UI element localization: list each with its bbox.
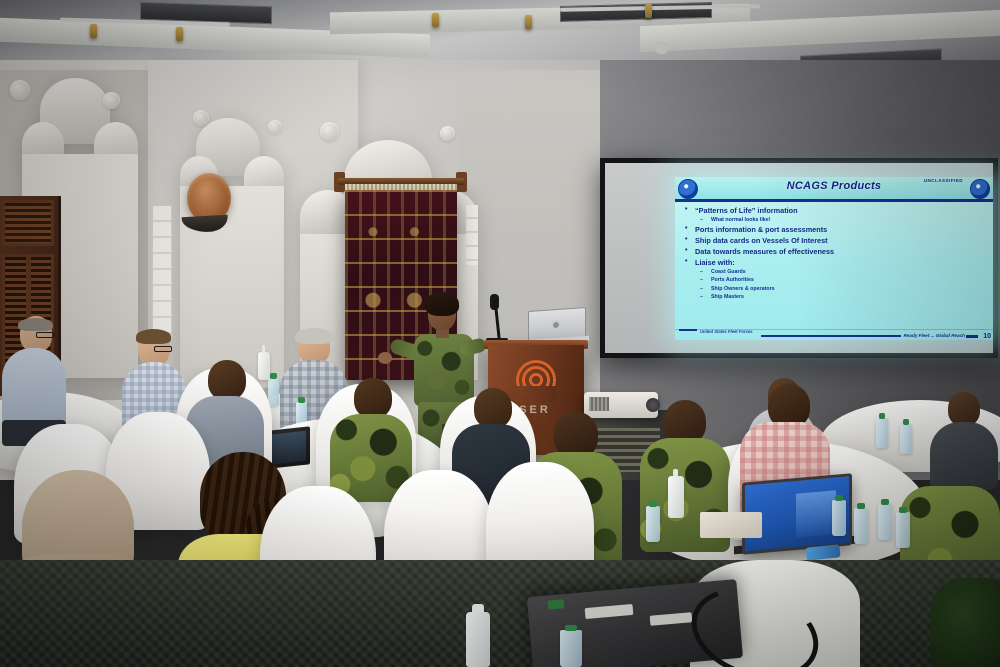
water-bottle bbox=[900, 424, 912, 454]
water-bottle bbox=[876, 418, 888, 448]
wall-medallion bbox=[10, 80, 30, 100]
track-light-icon bbox=[645, 4, 652, 18]
slide-bullet: Liaise with: bbox=[683, 259, 989, 267]
water-bottle bbox=[832, 500, 846, 536]
footer-text-right: Ready Fleet ... Global Reach bbox=[903, 333, 965, 338]
projection-screen: NCAGS Products UNCLASSIFIED “Patterns of… bbox=[600, 158, 998, 358]
footer-bar-right bbox=[966, 335, 978, 338]
slide-bullet: Ship data cards on Vessels Of Interest bbox=[683, 237, 989, 245]
slide-bullet: Ports information & port assessments bbox=[683, 226, 989, 234]
wall-medallion bbox=[320, 122, 339, 141]
classification-marking: UNCLASSIFIED bbox=[924, 178, 963, 183]
lattice-panel bbox=[152, 205, 172, 337]
slide-sub-bullet: What normal looks like! bbox=[683, 218, 989, 224]
slide-footer: United States Fleet Forces Ready Fleet .… bbox=[675, 324, 993, 340]
footer-rule-navy bbox=[761, 335, 901, 338]
attendee-dark-shirt-back-right bbox=[930, 392, 1000, 488]
projector-vent bbox=[589, 397, 609, 411]
wall-medallion bbox=[103, 92, 120, 109]
slide-sub-bullet: Coast Guards bbox=[683, 270, 989, 276]
slide-bullet: “Patterns of Life” information bbox=[683, 207, 989, 215]
track-light-icon bbox=[176, 27, 183, 41]
wall-medallion bbox=[193, 110, 209, 126]
water-bottle bbox=[878, 504, 892, 540]
presenter-hand bbox=[378, 352, 392, 364]
slide-sub-bullet: Ship Owners & operators bbox=[683, 287, 989, 293]
attendee-military-camouflage-left bbox=[330, 378, 414, 500]
wall-medallion bbox=[268, 120, 282, 134]
water-bottle bbox=[896, 512, 910, 548]
water-bottle bbox=[854, 508, 868, 544]
wall-medallion bbox=[440, 126, 455, 141]
track-light-icon bbox=[525, 15, 532, 29]
ceiling-speaker bbox=[655, 42, 669, 54]
footer-bar-left bbox=[679, 329, 697, 332]
water-bottle bbox=[646, 506, 660, 542]
fleet-forces-seal-icon bbox=[970, 179, 990, 199]
door-upper-louver bbox=[2, 200, 54, 246]
eyeglasses-icon bbox=[36, 332, 54, 338]
lattice-panel bbox=[466, 205, 478, 265]
notepad bbox=[700, 512, 762, 538]
water-bottle bbox=[268, 378, 279, 406]
slide-header: NCAGS Products UNCLASSIFIED bbox=[675, 177, 993, 202]
hand-sanitizer bbox=[466, 612, 490, 667]
track-light-icon bbox=[432, 13, 439, 27]
screen-surface: NCAGS Products UNCLASSIFIED “Patterns of… bbox=[605, 163, 993, 353]
slide-sub-bullet: Ports Authorities bbox=[683, 278, 989, 284]
attendee-civilian-glasses-left bbox=[2, 316, 68, 436]
eyeglasses-icon bbox=[154, 346, 172, 352]
hand-sanitizer bbox=[668, 476, 684, 518]
slide-sub-bullet: Ship Masters bbox=[683, 295, 989, 301]
slide-page-number: 10 bbox=[983, 333, 991, 340]
slide-body: “Patterns of Life” information What norm… bbox=[675, 202, 993, 301]
footer-text-left: United States Fleet Forces bbox=[700, 329, 753, 334]
slide-bullet: Data towards measures of effectiveness bbox=[683, 248, 989, 256]
conference-room-photo: NCAGS Products UNCLASSIFIED “Patterns of… bbox=[0, 0, 1000, 667]
water-bottle bbox=[560, 630, 582, 667]
laptop-screen-glow bbox=[796, 490, 836, 537]
presenter-hair bbox=[425, 292, 459, 316]
laptop-label-sticker bbox=[548, 599, 565, 609]
presentation-slide: NCAGS Products UNCLASSIFIED “Patterns of… bbox=[675, 177, 993, 340]
potted-plant bbox=[930, 578, 1000, 667]
track-light-icon bbox=[90, 24, 97, 38]
